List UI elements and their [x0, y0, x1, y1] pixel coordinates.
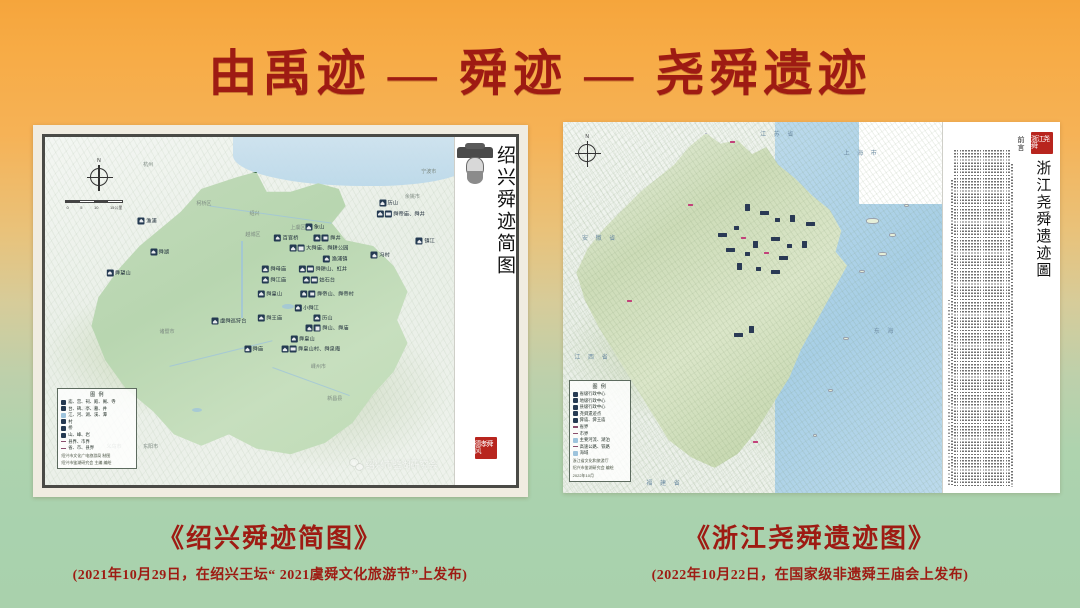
- site-marker[interactable]: 舜王庙: [258, 314, 282, 321]
- site-marker-label: 大舜庙、舜耕公园: [306, 245, 348, 252]
- legend-swatch-icon: [61, 448, 66, 449]
- legend-swatch-icon: [573, 392, 578, 397]
- site-cluster: [806, 222, 815, 226]
- slide-root: 由禹迹 — 舜迹 — 尧舜遗迹 N 051015公里: [0, 0, 1080, 608]
- site-cluster: [790, 215, 795, 222]
- site-cluster: [771, 270, 780, 274]
- site-marker[interactable]: 舜皇山村、舜泉庵: [281, 346, 340, 353]
- left-caption-title: 《绍兴舜迹简图》: [0, 518, 540, 555]
- red-seal-stamp: 浙江尧舜: [1031, 132, 1053, 154]
- legend-row: 省界: [573, 424, 627, 430]
- legend-row: 地级行政中心: [573, 398, 627, 404]
- site-marker[interactable]: 历山: [379, 200, 398, 207]
- city-label: 越城区: [245, 231, 260, 238]
- legend-note: 浙江省文化和旅游厅: [573, 458, 627, 464]
- preface-heading: 前言: [1016, 136, 1026, 487]
- site-cluster: [718, 233, 727, 237]
- site-marker[interactable]: 历山: [314, 314, 333, 321]
- legend-label: 省界: [580, 424, 589, 430]
- legend-swatch-icon: [573, 446, 578, 447]
- site-marker[interactable]: 姑石台: [303, 276, 335, 283]
- site-marker-label: 舜湖: [158, 248, 169, 255]
- legend-row: 江、河、湖、溪、潭: [61, 412, 133, 418]
- legend-label: 省、市、县界: [68, 445, 94, 451]
- left-caption-subtitle: (2021年10月29日，在绍兴王坛“ 2021虞舜文化旅游节”上发布): [0, 564, 540, 584]
- site-marker-icon: [262, 276, 269, 283]
- legend-note: 2022年10月: [573, 473, 627, 479]
- site-marker-label: 冯村: [379, 252, 390, 259]
- site-marker-label: 舜王庙: [266, 314, 282, 321]
- right-caption-title: 《浙江尧舜遗迹图》: [540, 518, 1080, 555]
- right-map-panel[interactable]: N 上 海 市东 海江 苏 省安 徽 省江 西 省福 建 省 图 例 省级行政中…: [563, 122, 1060, 493]
- watermark-label: 绍兴市鉴湖研究会: [366, 458, 438, 471]
- legend-title: 图 例: [573, 383, 627, 390]
- legend-label: 尧舜遗迹点: [580, 411, 601, 417]
- page-title: 由禹迹 — 舜迹 — 尧舜遗迹: [0, 34, 1080, 105]
- legend-swatch-icon: [573, 411, 578, 416]
- site-marker-label: 舜皇山村、舜泉庵: [298, 346, 340, 353]
- legend-row: 市界: [573, 431, 627, 437]
- island-shape: [904, 204, 909, 207]
- zhejiang-map-canvas[interactable]: N 上 海 市东 海江 苏 省安 徽 省江 西 省福 建 省 图 例 省级行政中…: [563, 122, 942, 493]
- preface-text-column: [971, 150, 973, 487]
- site-marker-icon: [371, 252, 378, 259]
- preface-text-column: [988, 150, 990, 487]
- legend-row: 县界、市界: [61, 439, 133, 445]
- site-marker-label: 小舜江: [303, 304, 319, 311]
- site-cluster: [779, 256, 788, 260]
- site-marker-label: 百官桥: [283, 234, 299, 241]
- site-marker[interactable]: 渔浦: [138, 217, 157, 224]
- city-label: 新昌县: [327, 395, 342, 402]
- preface-text-column: [1011, 164, 1013, 487]
- legend-label: 山、峰、岩: [68, 432, 89, 438]
- site-marker-icon: [377, 210, 392, 217]
- city-label: 余姚市: [405, 193, 420, 200]
- legend-row: 县级行政中心: [573, 404, 627, 410]
- island-shape: [878, 252, 887, 256]
- legend-label: 村: [68, 419, 72, 425]
- site-marker-label: 舜山、舜庙: [322, 325, 348, 332]
- site-marker-icon: [150, 248, 157, 255]
- preface-text-column: [991, 150, 993, 487]
- site-marker[interactable]: 舜帝山、舜帝村: [300, 290, 354, 297]
- legend-swatch-icon: [573, 438, 578, 443]
- right-title-column: 浙江尧舜 浙江尧舜遗迹圖: [1029, 132, 1055, 487]
- site-marker-label: 历山: [322, 314, 333, 321]
- map-legend: 图 例 省级行政中心地级行政中心县级行政中心尧舜遗迹点舜庙、舜王庙省界市界主要河…: [569, 380, 631, 482]
- site-marker[interactable]: 百官桥: [274, 234, 298, 241]
- site-marker-icon: [290, 335, 297, 342]
- preface-text-column: [1003, 150, 1005, 487]
- sea-or-province-label: 上 海 市: [843, 148, 879, 157]
- preface-text-column: [957, 150, 959, 487]
- red-seal-stamp: 德孝舜风: [475, 437, 497, 459]
- site-marker-label: 舜庙: [253, 346, 264, 353]
- site-marker-icon: [212, 318, 219, 325]
- right-caption-subtitle: (2022年10月22日，在国家级非遗舜王庙会上发布): [540, 564, 1080, 584]
- legend-notes: 浙江省文化和旅游厅绍兴市鉴湖研究会 编绘2022年10月: [573, 458, 627, 479]
- legend-note: 绍兴市文化广电旅游局 制图: [61, 453, 133, 459]
- site-marker[interactable]: 小舜江: [295, 304, 319, 311]
- legend-swatch-icon: [61, 441, 66, 442]
- site-marker-icon: [314, 314, 321, 321]
- city-label: 绍兴: [250, 210, 260, 217]
- legend-swatch-icon: [61, 426, 66, 431]
- legend-label: 海域: [580, 450, 589, 456]
- preface-text-column: [994, 150, 996, 487]
- site-marker-icon: [290, 245, 305, 252]
- site-marker-label: 舜帝庙、舜井: [393, 210, 425, 217]
- legend-row: 尧舜遗迹点: [573, 411, 627, 417]
- legend-row: 庙、宫、祠、殿、阁、寺: [61, 399, 133, 405]
- site-marker-label: 舜望山: [115, 269, 131, 276]
- scale-bar-ticks: 051015公里: [66, 205, 122, 211]
- sea-or-province-label: 东 海: [874, 326, 897, 335]
- legend-label: 县界、市界: [68, 439, 89, 445]
- site-cluster: [737, 263, 742, 270]
- legend-row: 高速公路、铁路: [573, 444, 627, 450]
- site-marker[interactable]: 舜庙: [244, 346, 263, 353]
- site-cluster: [745, 204, 750, 211]
- site-marker-icon: [303, 276, 318, 283]
- site-marker-label: 渔浦镇: [332, 255, 348, 262]
- site-marker-label: 舜耕山、虹井: [315, 266, 347, 273]
- preface-text-column: [962, 150, 964, 487]
- site-cluster: [749, 326, 754, 333]
- site-marker-icon: [258, 314, 265, 321]
- legend-swatch-icon: [573, 433, 578, 434]
- site-cluster: [760, 211, 769, 215]
- site-cluster: [753, 441, 758, 443]
- city-label: 宁波市: [421, 168, 436, 175]
- site-cluster: [775, 218, 780, 222]
- legend-swatch-icon: [573, 398, 578, 403]
- legend-label: 县级行政中心: [580, 404, 606, 410]
- site-marker[interactable]: 舜帝庙、舜井: [377, 210, 425, 217]
- site-cluster: [756, 267, 761, 271]
- site-marker[interactable]: 舜井: [314, 234, 341, 241]
- sea-or-province-label: 福 建 省: [646, 478, 682, 487]
- preface-text-column: [985, 150, 987, 487]
- legend-label: 地级行政中心: [580, 398, 606, 404]
- legend-row: 村: [61, 419, 133, 425]
- legend-notes: 绍兴市文化广电旅游局 制图绍兴市鉴湖研究会 主编 编绘: [61, 453, 133, 467]
- land-north-white: [859, 122, 942, 204]
- legend-note: 绍兴市鉴湖研究会 主编 编绘: [61, 460, 133, 466]
- site-marker-icon: [300, 290, 315, 297]
- site-marker-icon: [262, 266, 269, 273]
- map-legend: 图 例 庙、宫、祠、殿、阁、寺台、碑、亭、墓、井江、河、湖、溪、潭村桥山、峰、岩…: [57, 388, 137, 470]
- site-marker[interactable]: 舜望山: [106, 269, 130, 276]
- site-marker-icon: [379, 200, 386, 207]
- site-cluster: [730, 141, 735, 143]
- shun-emperor-portrait-icon: [455, 145, 492, 185]
- site-marker-icon: [314, 234, 329, 241]
- legend-swatch-icon: [573, 418, 578, 423]
- city-label: 上虞区: [290, 224, 305, 231]
- compass-north-label: N: [585, 134, 589, 140]
- preface-text-column: [997, 150, 999, 487]
- legend-label: 桥: [68, 425, 72, 431]
- legend-swatch-icon: [61, 433, 66, 438]
- site-cluster: [764, 252, 769, 254]
- sea-or-province-label: 安 徽 省: [582, 233, 618, 242]
- site-marker[interactable]: 舜母庙: [262, 266, 286, 273]
- preface-text-column: [968, 150, 970, 487]
- left-map-panel[interactable]: N 051015公里 杭州绍兴越城区柯桥区上虞区诸暨市嵊州市新昌县余姚市宁波市东…: [33, 125, 528, 497]
- site-marker-label: 历山: [388, 200, 399, 207]
- legend-row: 省、市、县界: [61, 445, 133, 451]
- site-marker[interactable]: 象山: [305, 224, 324, 231]
- preface-text-column: [980, 150, 982, 487]
- legend-row: 舜庙、舜王庙: [573, 417, 627, 423]
- sea-or-province-label: 江 西 省: [574, 352, 610, 361]
- preface-text-column: [974, 150, 976, 487]
- legend-label: 主要河流、湖泊: [580, 437, 610, 443]
- site-marker-label: 舜母庙: [270, 266, 286, 273]
- site-cluster: [802, 241, 807, 248]
- legend-swatch-icon: [61, 419, 66, 424]
- site-marker[interactable]: 舜湖: [150, 248, 169, 255]
- legend-row: 省级行政中心: [573, 391, 627, 397]
- wechat-icon: [350, 459, 363, 470]
- island-shape: [813, 434, 817, 437]
- site-marker[interactable]: 舜江庙: [262, 276, 286, 283]
- legend-row: 山、峰、岩: [61, 432, 133, 438]
- site-marker-icon: [323, 255, 330, 262]
- site-cluster: [734, 333, 743, 337]
- site-marker-label: 舜皇山: [299, 335, 315, 342]
- preface-text-column: [965, 150, 967, 487]
- legend-row: 海域: [573, 450, 627, 456]
- preface-text-column: [951, 180, 953, 487]
- site-cluster: [726, 248, 735, 252]
- site-marker[interactable]: 虞舜巡狩台: [212, 318, 247, 325]
- site-cluster: [753, 241, 758, 248]
- legend-title: 图 例: [61, 391, 133, 398]
- site-cluster: [745, 252, 750, 256]
- site-marker[interactable]: 舜山、舜庙: [306, 325, 349, 332]
- legend-swatch-icon: [61, 400, 66, 405]
- site-marker-icon: [244, 346, 251, 353]
- preface-text-columns: [948, 132, 1013, 487]
- site-marker-label: 象山: [314, 224, 325, 231]
- legend-label: 市界: [580, 431, 589, 437]
- compass-north-label: N: [97, 158, 101, 164]
- site-marker-icon: [416, 238, 423, 245]
- site-cluster: [771, 237, 780, 241]
- site-marker-label: 姑石台: [319, 276, 335, 283]
- site-marker-icon: [281, 346, 296, 353]
- legend-label: 省级行政中心: [580, 391, 606, 397]
- legend-label: 台、碑、亭、墓、井: [68, 406, 107, 412]
- legend-row: 主要河流、湖泊: [573, 437, 627, 443]
- site-marker-icon: [305, 224, 312, 231]
- legend-swatch-icon: [573, 426, 578, 427]
- shaoxing-map-canvas[interactable]: N 051015公里 杭州绍兴越城区柯桥区上虞区诸暨市嵊州市新昌县余姚市宁波市东…: [45, 137, 454, 485]
- site-marker-icon: [258, 290, 265, 297]
- site-marker-icon: [106, 269, 113, 276]
- legend-label: 高速公路、铁路: [580, 444, 610, 450]
- site-marker-icon: [299, 266, 314, 273]
- legend-swatch-icon: [61, 406, 66, 411]
- preface-text-column: [1006, 150, 1008, 487]
- right-title-strip: 浙江尧舜 浙江尧舜遗迹圖 前言: [942, 122, 1060, 493]
- preface-text-column: [983, 150, 985, 487]
- legend-swatch-icon: [573, 451, 578, 456]
- site-marker-label: 舜帝山、舜帝村: [317, 290, 354, 297]
- site-marker[interactable]: 舜皇山: [258, 290, 282, 297]
- preface-text-column: [977, 150, 979, 487]
- site-marker-label: 舜江庙: [270, 276, 286, 283]
- wechat-watermark: 绍兴市鉴湖研究会: [350, 458, 438, 471]
- site-marker-icon: [274, 234, 281, 241]
- left-vertical-title: 绍兴舜迹简图: [492, 145, 516, 485]
- site-marker-label: 舜井: [330, 234, 341, 241]
- legend-rows: 省级行政中心地级行政中心县级行政中心尧舜遗迹点舜庙、舜王庙省界市界主要河流、湖泊…: [573, 391, 627, 456]
- legend-label: 江、河、湖、溪、潭: [68, 412, 107, 418]
- city-label: 柯桥区: [196, 200, 211, 207]
- site-marker[interactable]: 镇江: [416, 238, 435, 245]
- preface-signature-column: [948, 300, 950, 487]
- city-label: 诸暨市: [160, 328, 175, 335]
- city-label: 嵊州市: [311, 363, 326, 370]
- legend-row: 台、碑、亭、墓、井: [61, 406, 133, 412]
- site-marker-label: 舜皇山: [266, 290, 282, 297]
- preface-text-column: [960, 150, 962, 487]
- legend-swatch-icon: [61, 413, 66, 418]
- site-marker[interactable]: 大舜庙、舜耕公园: [290, 245, 349, 252]
- legend-label: 舜庙、舜王庙: [580, 417, 606, 423]
- legend-row: 桥: [61, 425, 133, 431]
- site-marker[interactable]: 冯村: [371, 252, 390, 259]
- preface-text-column: [954, 150, 956, 487]
- legend-swatch-icon: [573, 405, 578, 410]
- site-marker-icon: [295, 304, 302, 311]
- left-caption: 《绍兴舜迹简图》 (2021年10月29日，在绍兴王坛“ 2021虞舜文化旅游节…: [0, 518, 540, 584]
- site-marker-label: 虞舜巡狩台: [220, 318, 246, 325]
- sea-or-province-label: 江 苏 省: [760, 129, 796, 138]
- site-marker[interactable]: 舜皇山: [290, 335, 314, 342]
- city-label: 杭州: [143, 161, 153, 168]
- site-cluster: [787, 244, 792, 248]
- site-marker-icon: [306, 325, 321, 332]
- site-cluster: [734, 226, 739, 230]
- legend-note: 绍兴市鉴湖研究会 编绘: [573, 465, 627, 471]
- scale-bar: 051015公里: [65, 200, 123, 203]
- right-vertical-title: 浙江尧舜遗迹圖: [1033, 160, 1052, 279]
- left-title-strip: 绍兴舜迹简图 德孝舜风: [454, 137, 516, 485]
- site-marker[interactable]: 渔浦镇: [323, 255, 347, 262]
- site-cluster: [627, 300, 632, 302]
- site-marker-label: 渔浦: [146, 217, 157, 224]
- site-marker-icon: [138, 217, 145, 224]
- preface-text-column: [1008, 150, 1010, 487]
- site-marker[interactable]: 舜耕山、虹井: [299, 266, 347, 273]
- preface-text-column: [1000, 150, 1002, 487]
- site-marker-label: 镇江: [424, 238, 435, 245]
- legend-rows: 庙、宫、祠、殿、阁、寺台、碑、亭、墓、井江、河、湖、溪、潭村桥山、峰、岩县界、市…: [61, 399, 133, 451]
- site-cluster: [688, 204, 693, 206]
- river-line: [241, 241, 242, 318]
- legend-label: 庙、宫、祠、殿、阁、寺: [68, 399, 115, 405]
- right-caption: 《浙江尧舜遗迹图》 (2022年10月22日，在国家级非遗舜王庙会上发布): [540, 518, 1080, 584]
- site-cluster: [741, 237, 746, 239]
- left-map-frame: N 051015公里 杭州绍兴越城区柯桥区上虞区诸暨市嵊州市新昌县余姚市宁波市东…: [42, 134, 519, 488]
- city-label: 东阳市: [143, 443, 158, 450]
